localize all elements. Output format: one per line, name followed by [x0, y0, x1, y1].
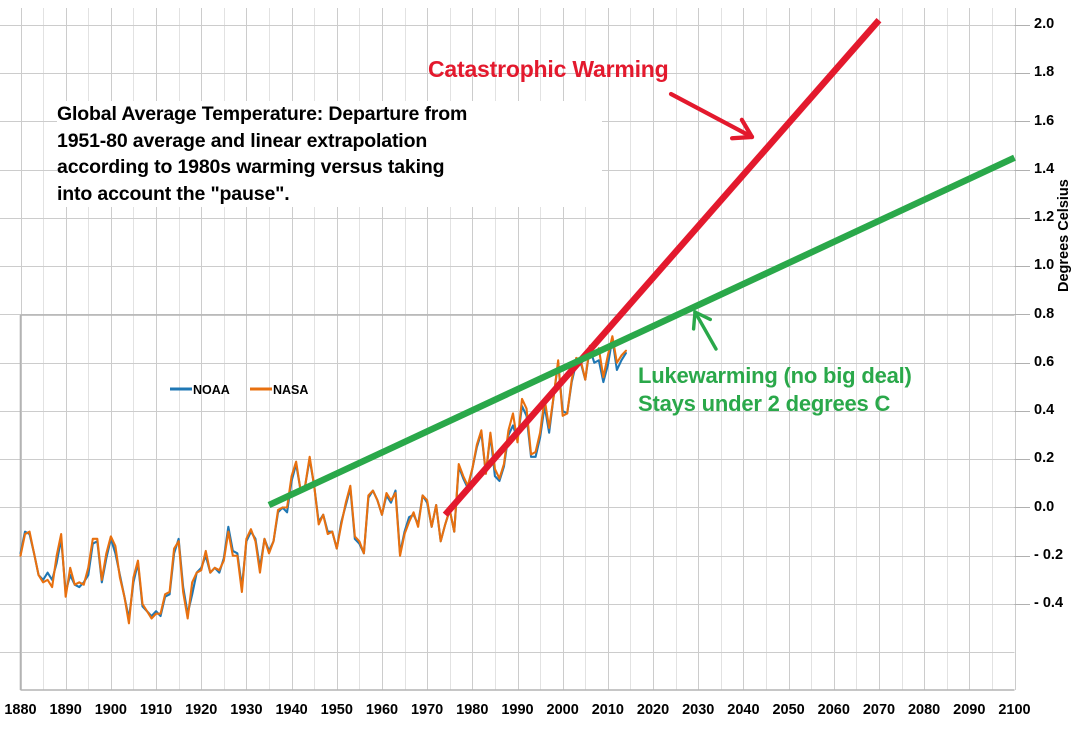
temperature-chart: NOAANASA [0, 0, 1092, 736]
catastrophic-warming-arrow-head-1 [732, 137, 752, 138]
legend-item-nasa: NASA [250, 383, 308, 397]
grid-layer [0, 8, 1030, 690]
legend-item-noaa: NOAA [170, 383, 230, 397]
legend: NOAANASA [170, 383, 308, 397]
plot-border [21, 315, 1015, 690]
legend-label-noaa: NOAA [193, 383, 230, 397]
catastrophic-warming-arrow [671, 94, 752, 138]
lukewarming-arrow-head-0 [694, 312, 695, 329]
trend-line-catastrophic-warming [445, 20, 879, 515]
lukewarming-arrow [694, 312, 716, 349]
catastrophic-warming-arrow-shaft [671, 94, 752, 137]
chart-page: NOAANASA Global Average Temperature: Dep… [0, 0, 1092, 736]
legend-label-nasa: NASA [273, 383, 308, 397]
